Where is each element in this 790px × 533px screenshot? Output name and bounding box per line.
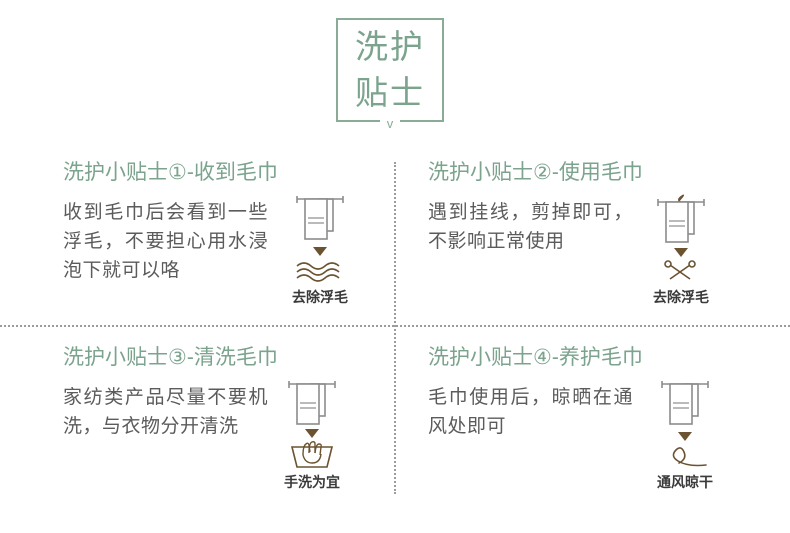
tip-icon-block: 去除浮毛: [266, 192, 374, 306]
tip-body: 遇到挂线，剪掉即可，不影响正常使用: [428, 198, 633, 256]
tip-card-2: 洗护小贴士②-使用毛巾 遇到挂线，剪掉即可，不影响正常使用: [395, 140, 790, 325]
tip-card-1: 洗护小贴士①-收到毛巾 收到毛巾后会看到一些浮毛，不要担心用水浸泡下就可以咯: [0, 140, 395, 325]
tip-icon-block: 手洗为宜: [258, 377, 366, 491]
tip-icon-block: 去除浮毛: [627, 192, 735, 306]
tip-body: 家纺类产品尽量不要机洗，与衣物分开清洗: [63, 383, 268, 441]
tip-icon-caption: 手洗为宜: [284, 473, 340, 491]
tips-grid: 洗护小贴士①-收到毛巾 收到毛巾后会看到一些浮毛，不要担心用水浸泡下就可以咯: [0, 140, 790, 510]
page-title-line-2: 贴士: [355, 70, 425, 116]
tip-body: 收到毛巾后会看到一些浮毛，不要担心用水浸泡下就可以咯: [63, 198, 268, 285]
tip-title: 洗护小贴士④-养护毛巾: [428, 345, 643, 371]
tip-title: 洗护小贴士③-清洗毛巾: [63, 345, 278, 371]
towel-soak-icon: [287, 192, 353, 284]
tip-icon-caption: 去除浮毛: [653, 288, 709, 306]
tip-icon-caption: 去除浮毛: [292, 288, 348, 306]
tip-title: 洗护小贴士②-使用毛巾: [428, 160, 643, 186]
tip-body: 毛巾使用后，晾晒在通风处即可: [428, 383, 633, 441]
towel-scissors-icon: [648, 192, 714, 284]
tip-title: 洗护小贴士①-收到毛巾: [63, 160, 278, 186]
tip-card-4: 洗护小贴士④-养护毛巾 毛巾使用后，晾晒在通风处即可 通风晾干: [395, 325, 790, 510]
header-banner: v 洗护 贴士: [0, 0, 790, 150]
towel-handwash-icon: [279, 377, 345, 469]
page-title-line-1: 洗护: [355, 24, 425, 70]
tip-icon-block: 通风晾干: [631, 377, 739, 491]
towel-airdry-icon: [652, 377, 718, 469]
page-title: 洗护 贴士: [336, 18, 444, 122]
tip-card-3: 洗护小贴士③-清洗毛巾 家纺类产品尽量不要机洗，与衣物分开清洗: [0, 325, 395, 510]
tip-icon-caption: 通风晾干: [657, 473, 713, 491]
